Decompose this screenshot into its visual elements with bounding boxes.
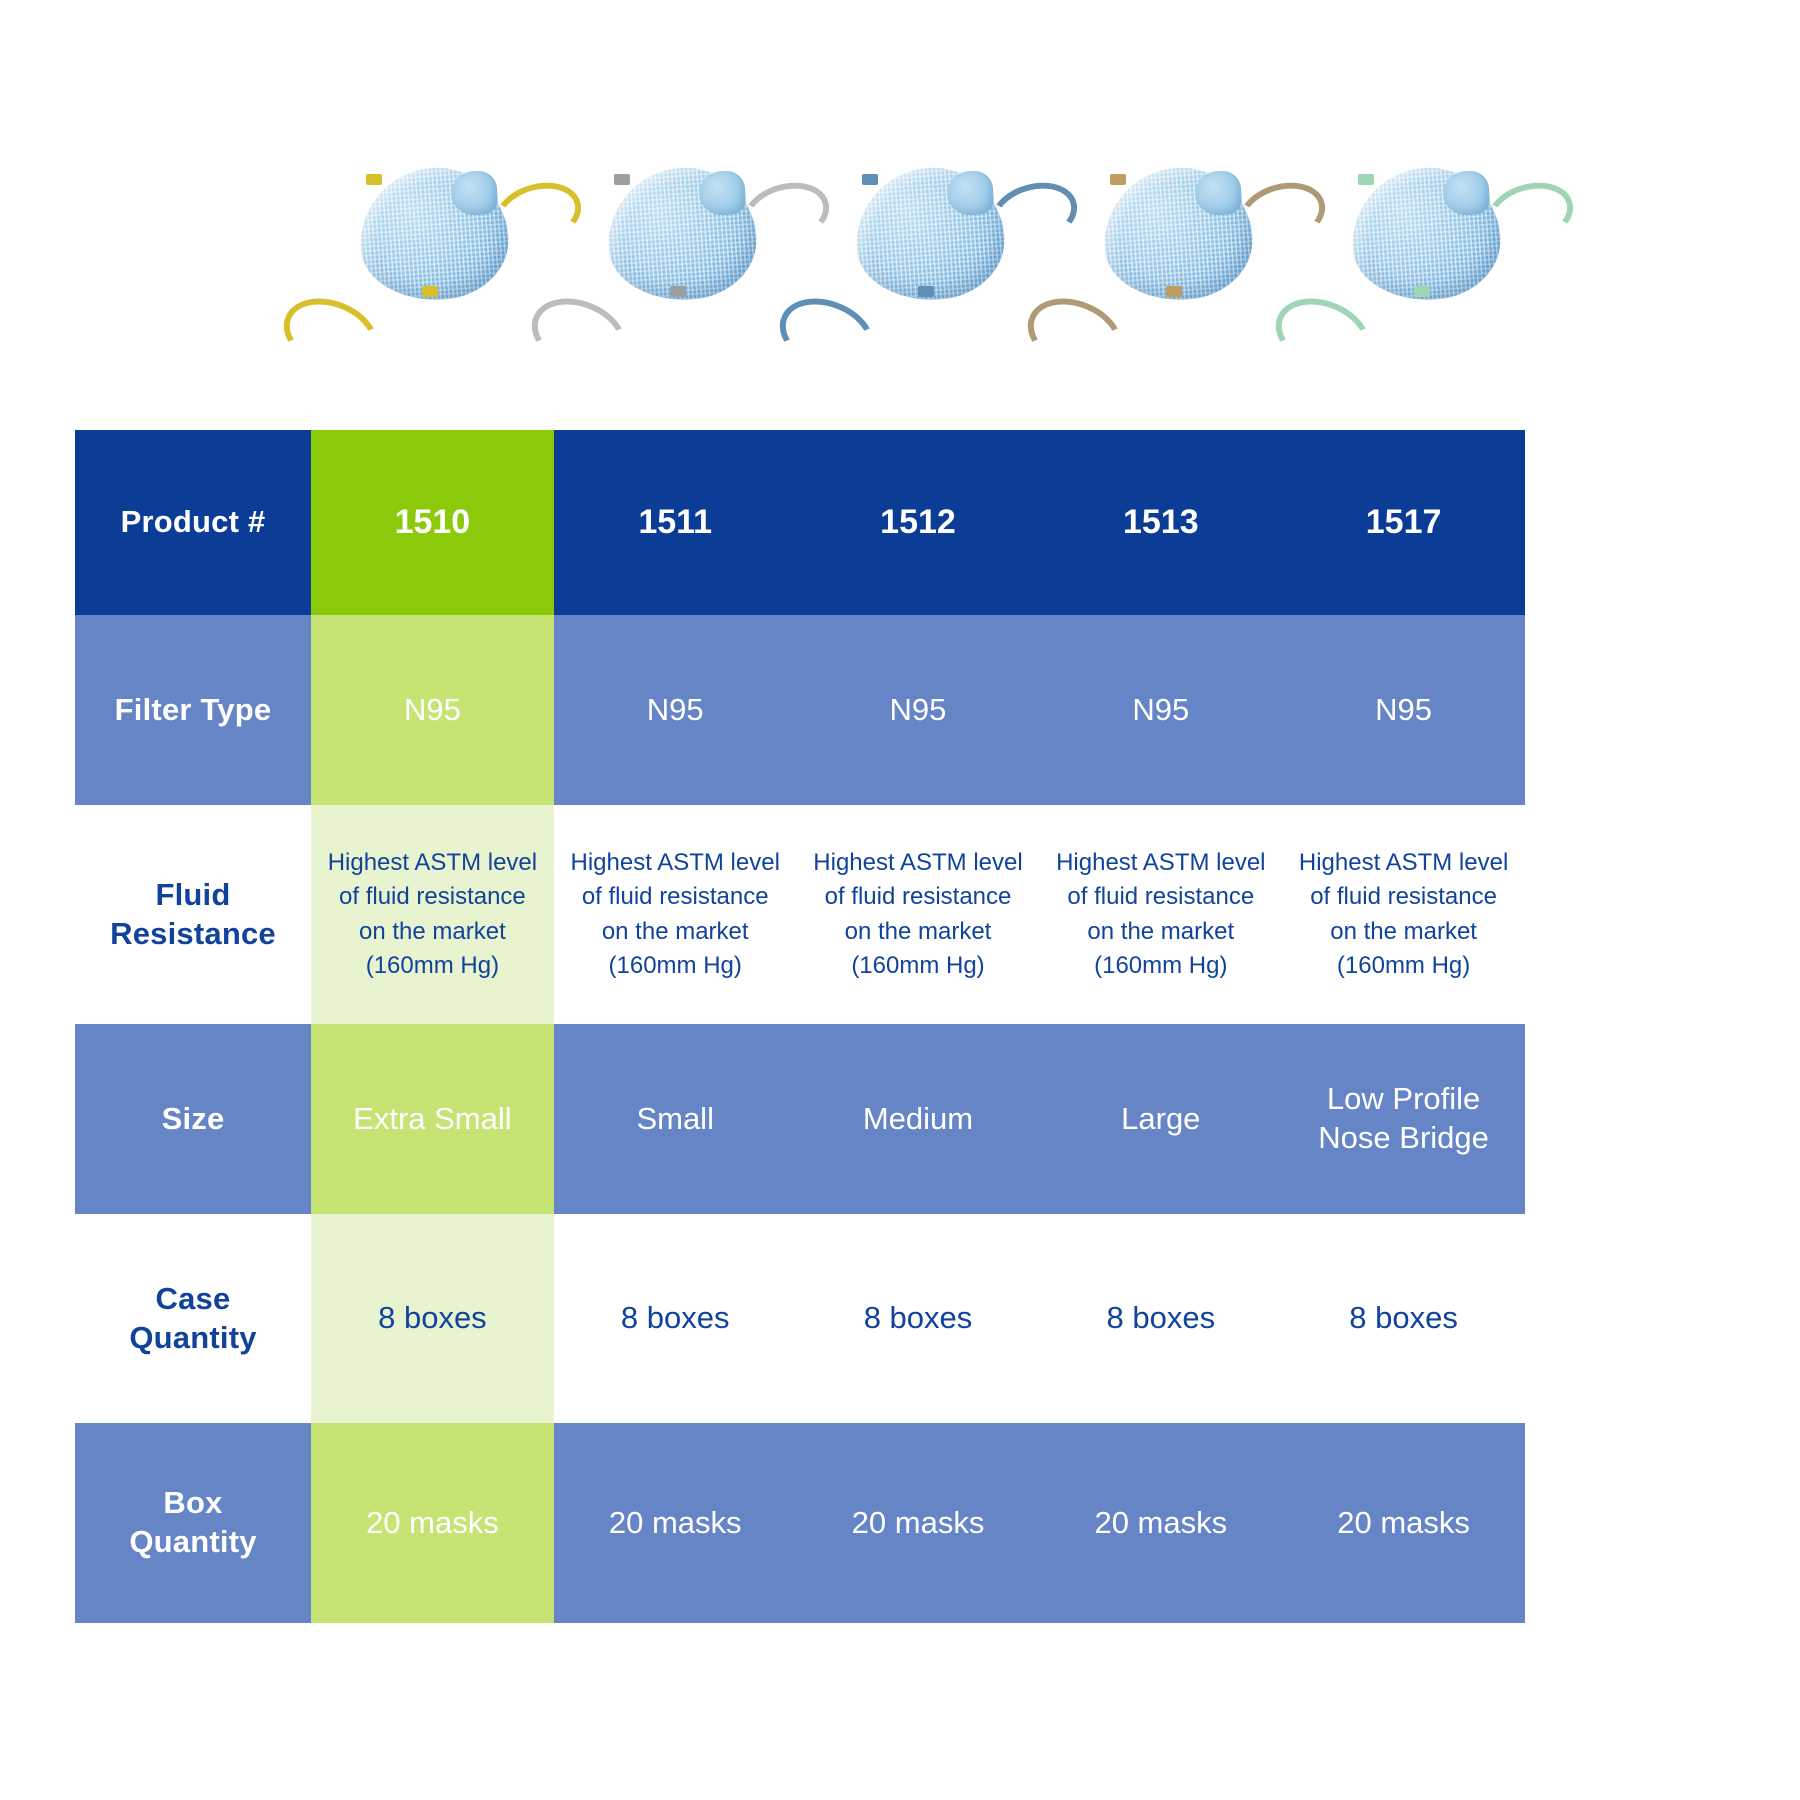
row-label-product-number: Product # <box>75 430 311 615</box>
spacer-cell <box>1039 1214 1282 1226</box>
row-label-line-2: Quantity <box>75 1319 311 1358</box>
product-image-1517 <box>1302 150 1550 375</box>
mask-clip-bottom-icon <box>422 286 438 297</box>
mask-clip-top-icon <box>366 174 382 185</box>
table-row-fluid-resistance: Fluid Resistance Highest ASTM level of f… <box>75 817 1525 1012</box>
fluid-line-1: Highest ASTM level <box>1039 846 1282 880</box>
spacer-cell-highlight <box>311 1214 554 1226</box>
size-line-2: Nose Bridge <box>1282 1119 1525 1158</box>
cell-size-1512: Medium <box>797 1024 1040 1214</box>
fluid-line-2: of fluid resistance <box>554 880 797 914</box>
product-image-1510 <box>310 150 558 375</box>
fluid-line-3: on the market <box>1039 915 1282 949</box>
spacer-cell <box>1282 805 1525 817</box>
row-spacer <box>75 1411 1525 1423</box>
fluid-line-3: on the market <box>1282 915 1525 949</box>
row-label-filter-type: Filter Type <box>75 615 311 805</box>
row-spacer <box>75 805 1525 817</box>
spacer-cell <box>554 1214 797 1226</box>
table-row-product-number: Product # 1510 1511 1512 1513 1517 <box>75 430 1525 615</box>
fluid-line-1: Highest ASTM level <box>1282 846 1525 880</box>
fluid-line-4: (160mm Hg) <box>311 949 554 983</box>
spacer-cell <box>554 805 797 817</box>
spacer-cell-highlight <box>311 805 554 817</box>
row-spacer <box>75 1214 1525 1226</box>
spacer-cell-highlight <box>311 1411 554 1423</box>
fluid-line-1: Highest ASTM level <box>311 846 554 880</box>
row-label-case-quantity: Case Quantity <box>75 1226 311 1411</box>
spacer-cell <box>1282 1012 1525 1024</box>
cell-fluid-1510: Highest ASTM level of fluid resistance o… <box>311 817 554 1012</box>
product-image-1513 <box>1054 150 1302 375</box>
spacer-cell <box>75 805 311 817</box>
fluid-line-2: of fluid resistance <box>1282 880 1525 914</box>
fluid-line-3: on the market <box>311 915 554 949</box>
spacer-cell <box>797 1214 1040 1226</box>
mask-clip-bottom-icon <box>670 286 686 297</box>
size-line-1: Low Profile <box>1282 1080 1525 1119</box>
row-label-fluid-resistance: Fluid Resistance <box>75 817 311 1012</box>
spacer-cell <box>1039 805 1282 817</box>
row-label-size: Size <box>75 1024 311 1214</box>
fluid-line-4: (160mm Hg) <box>1282 949 1525 983</box>
product-image-strip <box>310 150 1550 375</box>
mask-clip-top-icon <box>1358 174 1374 185</box>
fluid-line-4: (160mm Hg) <box>1039 949 1282 983</box>
cell-fluid-1511: Highest ASTM level of fluid resistance o… <box>554 817 797 1012</box>
row-spacer <box>75 1012 1525 1024</box>
cell-box-1513: 20 masks <box>1039 1423 1282 1623</box>
spacer-cell <box>75 1214 311 1226</box>
fluid-line-3: on the market <box>797 915 1040 949</box>
spacer-cell <box>1039 1012 1282 1024</box>
spacer-cell <box>1282 1411 1525 1423</box>
mask-nose-area <box>946 170 995 217</box>
mask-strap-lower-icon <box>273 285 389 385</box>
fluid-line-2: of fluid resistance <box>1039 880 1282 914</box>
table-row-case-quantity: Case Quantity 8 boxes 8 boxes 8 boxes 8 … <box>75 1226 1525 1411</box>
spacer-cell-highlight <box>311 1012 554 1024</box>
cell-filter-1513: N95 <box>1039 615 1282 805</box>
spacer-cell <box>554 1012 797 1024</box>
product-comparison-page: Product # 1510 1511 1512 1513 1517 Filte… <box>0 0 1800 1800</box>
cell-fluid-1513: Highest ASTM level of fluid resistance o… <box>1039 817 1282 1012</box>
cell-case-1513: 8 boxes <box>1039 1226 1282 1411</box>
mask-clip-bottom-icon <box>1166 286 1182 297</box>
product-comparison-table: Product # 1510 1511 1512 1513 1517 Filte… <box>75 430 1525 1623</box>
cell-case-1510: 8 boxes <box>311 1226 554 1411</box>
row-label-line-2: Resistance <box>75 915 311 954</box>
spacer-cell <box>554 1411 797 1423</box>
mask-clip-top-icon <box>862 174 878 185</box>
row-label-box-quantity: Box Quantity <box>75 1423 311 1623</box>
mask-clip-bottom-icon <box>1414 286 1430 297</box>
cell-filter-1517: N95 <box>1282 615 1525 805</box>
cell-product-1511: 1511 <box>554 430 797 615</box>
spacer-cell <box>1039 1411 1282 1423</box>
spacer-cell <box>75 1012 311 1024</box>
cell-filter-1511: N95 <box>554 615 797 805</box>
fluid-line-4: (160mm Hg) <box>797 949 1040 983</box>
spacer-cell <box>75 1411 311 1423</box>
spacer-cell <box>1282 1214 1525 1226</box>
cell-box-1511: 20 masks <box>554 1423 797 1623</box>
fluid-line-2: of fluid resistance <box>797 880 1040 914</box>
table-row-filter-type: Filter Type N95 N95 N95 N95 N95 <box>75 615 1525 805</box>
mask-nose-area <box>698 170 747 217</box>
mask-clip-top-icon <box>614 174 630 185</box>
fluid-line-3: on the market <box>554 915 797 949</box>
row-label-line-1: Case <box>75 1280 311 1319</box>
row-label-line-1: Box <box>75 1484 311 1523</box>
cell-case-1517: 8 boxes <box>1282 1226 1525 1411</box>
product-image-1511 <box>558 150 806 375</box>
cell-box-1510: 20 masks <box>311 1423 554 1623</box>
cell-filter-1512: N95 <box>797 615 1040 805</box>
mask-nose-area <box>450 170 499 217</box>
row-label-line-2: Quantity <box>75 1523 311 1562</box>
mask-clip-top-icon <box>1110 174 1126 185</box>
cell-box-1517: 20 masks <box>1282 1423 1525 1623</box>
mask-nose-area <box>1442 170 1491 217</box>
cell-fluid-1517: Highest ASTM level of fluid resistance o… <box>1282 817 1525 1012</box>
fluid-line-1: Highest ASTM level <box>554 846 797 880</box>
fluid-line-2: of fluid resistance <box>311 880 554 914</box>
row-label-line-1: Fluid <box>75 876 311 915</box>
cell-filter-1510: N95 <box>311 615 554 805</box>
fluid-line-1: Highest ASTM level <box>797 846 1040 880</box>
cell-product-1517: 1517 <box>1282 430 1525 615</box>
cell-product-1512: 1512 <box>797 430 1040 615</box>
cell-size-1513: Large <box>1039 1024 1282 1214</box>
table-row-size: Size Extra Small Small Medium Large Low … <box>75 1024 1525 1214</box>
cell-size-1511: Small <box>554 1024 797 1214</box>
spacer-cell <box>797 1012 1040 1024</box>
mask-nose-area <box>1194 170 1243 217</box>
mask-clip-bottom-icon <box>918 286 934 297</box>
spacer-cell <box>797 1411 1040 1423</box>
product-image-1512 <box>806 150 1054 375</box>
cell-case-1512: 8 boxes <box>797 1226 1040 1411</box>
fluid-line-4: (160mm Hg) <box>554 949 797 983</box>
cell-case-1511: 8 boxes <box>554 1226 797 1411</box>
spacer-cell <box>797 805 1040 817</box>
cell-fluid-1512: Highest ASTM level of fluid resistance o… <box>797 817 1040 1012</box>
cell-size-1510: Extra Small <box>311 1024 554 1214</box>
cell-size-1517: Low Profile Nose Bridge <box>1282 1024 1525 1214</box>
cell-box-1512: 20 masks <box>797 1423 1040 1623</box>
cell-product-1513: 1513 <box>1039 430 1282 615</box>
cell-product-1510: 1510 <box>311 430 554 615</box>
table-row-box-quantity: Box Quantity 20 masks 20 masks 20 masks … <box>75 1423 1525 1623</box>
